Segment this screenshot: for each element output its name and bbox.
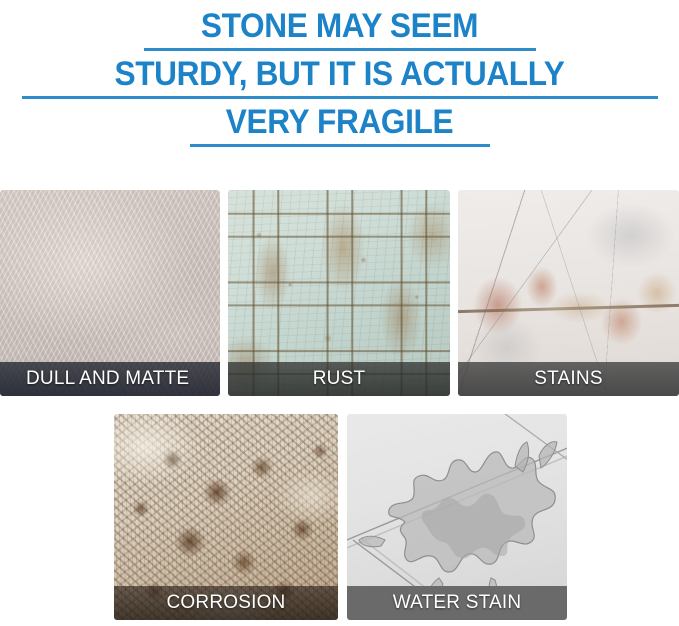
card-dull-and-matte: DULL AND MATTE — [0, 190, 220, 396]
headline-line-2: STURDY, BUT IT IS ACTUALLY — [24, 54, 655, 94]
card-label-corrosion: CORROSION — [114, 586, 338, 620]
card-rust: RUST — [228, 190, 450, 396]
headline-line-1: STONE MAY SEEM — [24, 6, 655, 46]
card-stains: STAINS — [458, 190, 679, 396]
card-corrosion: CORROSION — [114, 414, 338, 620]
headline-rule-3 — [190, 144, 490, 147]
headline-block: STONE MAY SEEM STURDY, BUT IT IS ACTUALL… — [0, 0, 679, 150]
card-water-stain: WATER STAIN — [347, 414, 567, 620]
card-label-dull-and-matte: DULL AND MATTE — [0, 362, 220, 396]
card-label-rust: RUST — [228, 362, 450, 396]
headline-line-3: VERY FRAGILE — [24, 102, 655, 142]
headline-rule-1 — [144, 48, 536, 51]
headline-rule-2 — [22, 96, 658, 99]
card-label-water-stain: WATER STAIN — [347, 586, 567, 620]
card-label-stains: STAINS — [458, 362, 679, 396]
